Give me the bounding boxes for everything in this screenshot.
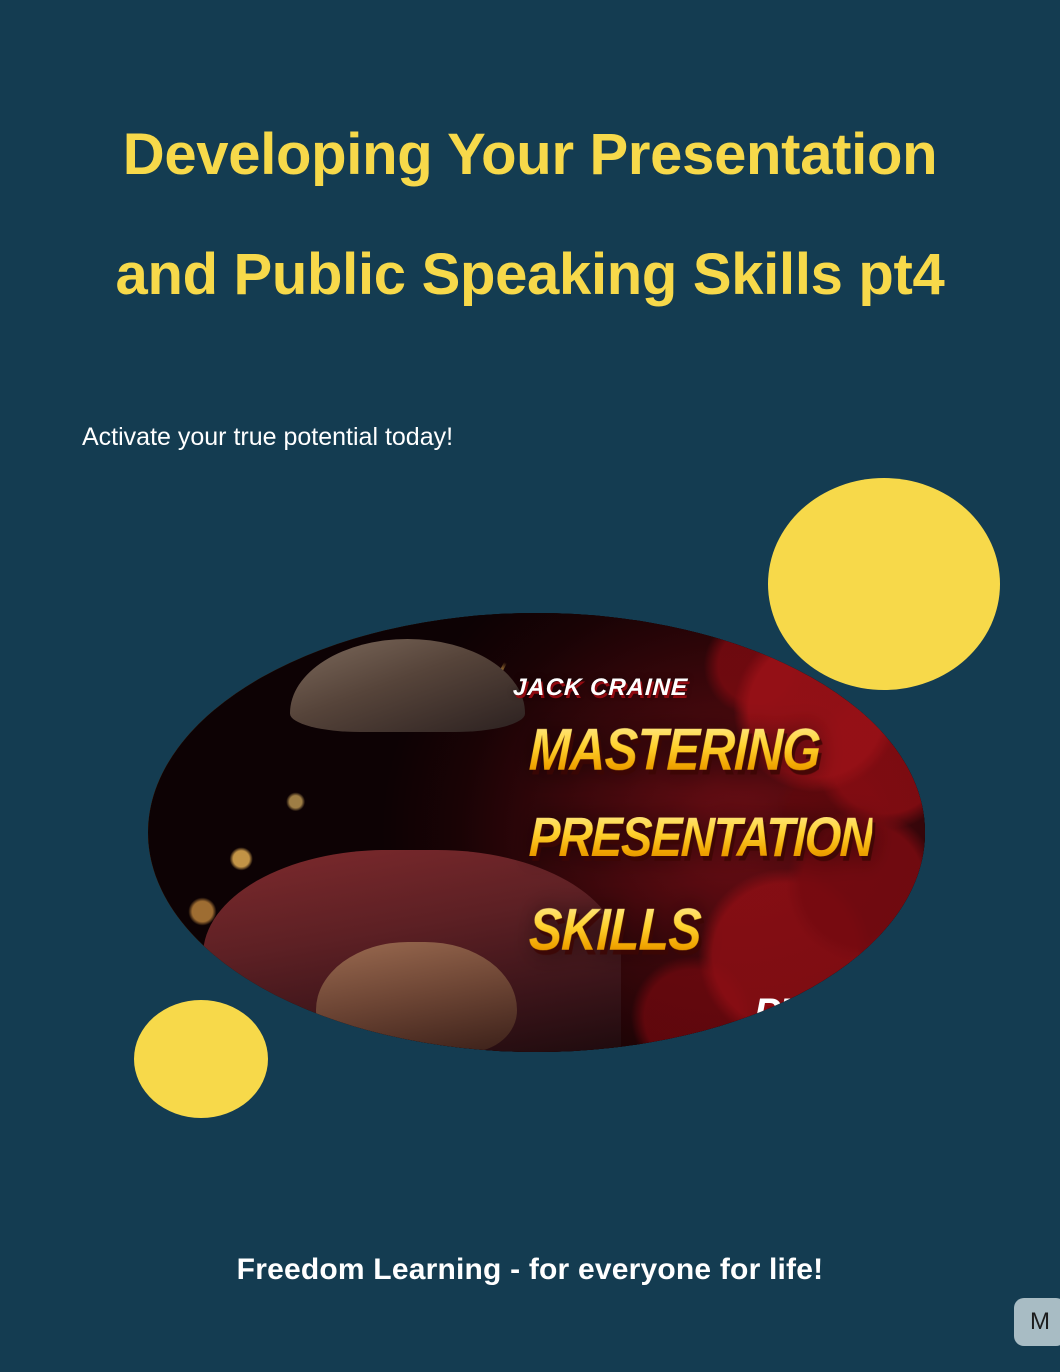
corner-badge-label: M xyxy=(1030,1308,1050,1336)
video-thumbnail-oval[interactable]: JACK CRAINE MASTERING PRESENTATION SKILL… xyxy=(148,613,925,1052)
thumbnail-headline-line-1: MASTERING xyxy=(528,723,821,778)
thumbnail-presenter-name: JACK CRAINE xyxy=(512,674,688,702)
title-line-2: and Public Speaking Skills pt4 xyxy=(60,246,1000,304)
presenter-hair xyxy=(290,639,525,732)
footer-tagline: Freedom Learning - for everyone for life… xyxy=(0,1253,1060,1287)
page-title: Developing Your Presentation and Public … xyxy=(60,126,1000,304)
thumbnail-headline-line-3: SKILLS xyxy=(528,903,701,958)
corner-badge-button[interactable]: M xyxy=(1014,1298,1060,1346)
decorative-circle-small xyxy=(134,1000,268,1118)
thumbnail-part-label: PT xyxy=(754,991,805,1036)
thumbnail-headline-line-2: PRESENTATION xyxy=(528,811,873,863)
title-line-1: Developing Your Presentation xyxy=(60,126,1000,184)
slide-canvas: Developing Your Presentation and Public … xyxy=(0,0,1060,1372)
subtitle-text: Activate your true potential today! xyxy=(82,422,453,452)
presenter-hands xyxy=(316,942,516,1052)
